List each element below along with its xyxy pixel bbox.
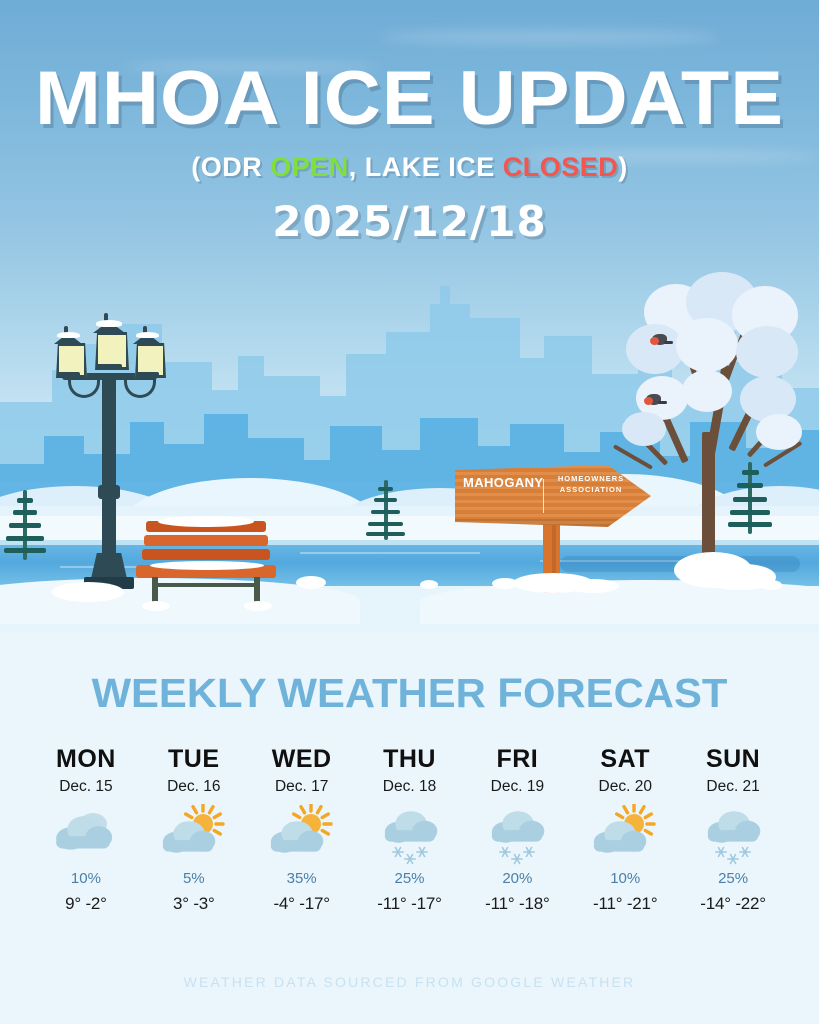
day-of-week: FRI [463,745,571,774]
snow-icon [478,804,556,866]
snow-at-sign-base [567,579,619,593]
forecast-day-tue: TUEDec. 165%3° -3° [140,745,248,914]
day-of-week: SUN [679,745,787,774]
weather-icon-wrap [679,804,787,866]
day-date: Dec. 19 [463,778,571,796]
fir-tree-icon [4,490,48,564]
precipitation-chance: 10% [32,870,140,887]
precipitation-chance: 10% [571,870,679,887]
status-badge-closed: CLOSED [503,152,619,182]
day-date: Dec. 21 [679,778,787,796]
partly-sunny-icon [155,804,233,866]
day-of-week: WED [248,745,356,774]
data-source-footer: WEATHER DATA SOURCED FROM GOOGLE WEATHER [0,974,819,990]
temperature-range: -14° -22° [679,894,787,914]
precipitation-chance: 20% [463,870,571,887]
weather-icon-wrap [356,804,464,866]
bench-stretcher [152,583,260,587]
weather-icon-wrap [32,804,140,866]
ice-update-poster: MAHOGANY HOMEOWNERS ASSOCIATION [0,0,819,1024]
precipitation-chance: 25% [679,870,787,887]
bench-backrest-slat [142,549,270,560]
day-date: Dec. 17 [248,778,356,796]
precipitation-chance: 35% [248,870,356,887]
status-badge-open: OPEN [270,152,349,182]
day-of-week: MON [32,745,140,774]
snow-lump [420,580,438,589]
lantern-center [91,321,127,377]
snow-foliage [622,412,666,446]
partly-sunny-icon [263,804,341,866]
temperature-range: 3° -3° [140,894,248,914]
snowy-tree-illustration [620,272,810,592]
snow-icon [371,804,449,866]
snow-lump [296,576,326,589]
snow-foliage [626,324,684,374]
cloudy-icon [47,804,125,866]
day-date: Dec. 16 [140,778,248,796]
temperature-range: -11° -21° [571,894,679,914]
precipitation-chance: 5% [140,870,248,887]
forecast-day-mon: MONDec. 1510%9° -2° [32,745,140,914]
snow-on-bench-seat [150,561,264,570]
page-title: MHOA ICE UPDATE [0,62,819,136]
snow-at-bench-foot [142,601,170,611]
weekly-forecast-panel: WEEKLY WEATHER FORECAST MONDec. 1510%9° … [0,632,819,1024]
status-subtitle: (ODR OPEN, LAKE ICE CLOSED) [0,152,819,183]
day-of-week: TUE [140,745,248,774]
lantern-left [53,333,85,383]
sign-left-text: MAHOGANY [463,475,541,490]
precipitation-chance: 25% [356,870,464,887]
day-date: Dec. 18 [356,778,464,796]
fir-tree-icon [366,480,406,544]
sign-divider [543,479,544,513]
snow-at-tree-base [712,564,776,590]
snow-foliage [756,414,802,450]
snow-foliage [682,370,732,412]
forecast-day-sat: SATDec. 2010%-11° -21° [571,745,679,914]
lamp-post [102,377,116,573]
subtitle-before: (ODR [191,152,270,182]
temperature-range: 9° -2° [32,894,140,914]
weather-icon-wrap [248,804,356,866]
forecast-days-row: MONDec. 1510%9° -2°TUEDec. 165%3° -3°WED… [0,717,819,914]
poster-header: MHOA ICE UPDATE (ODR OPEN, LAKE ICE CLOS… [0,0,819,246]
snow-foliage [676,318,738,372]
day-of-week: THU [356,745,464,774]
weather-icon-wrap [463,804,571,866]
forecast-day-wed: WEDDec. 1735%-4° -17° [248,745,356,914]
weather-icon-wrap [571,804,679,866]
partly-sunny-icon [586,804,664,866]
snow-at-bench-foot [244,601,272,611]
park-bench-icon [136,521,276,603]
subtitle-after: ) [618,152,628,182]
temperature-range: -11° -17° [356,894,464,914]
subtitle-middle: , LAKE ICE [349,152,503,182]
lantern-right [132,333,164,383]
temperature-range: -4° -17° [248,894,356,914]
temperature-range: -11° -18° [463,894,571,914]
snow-at-lamp-base [52,582,124,602]
forecast-title: WEEKLY WEATHER FORECAST [0,670,819,717]
snow-foliage [736,326,798,378]
weather-icon-wrap [140,804,248,866]
forecast-day-thu: THUDec. 1825%-11° -17° [356,745,464,914]
bench-backrest-slat [144,535,268,546]
ice-stripe [300,552,480,554]
forecast-day-fri: FRIDec. 1920%-11° -18° [463,745,571,914]
snow-on-bench-back [158,516,254,527]
day-date: Dec. 20 [571,778,679,796]
day-of-week: SAT [571,745,679,774]
forecast-day-sun: SUNDec. 2125%-14° -22° [679,745,787,914]
day-date: Dec. 15 [32,778,140,796]
snow-icon [694,804,772,866]
lamp-collar [98,485,120,499]
update-date: 2025/12/18 [0,197,819,246]
